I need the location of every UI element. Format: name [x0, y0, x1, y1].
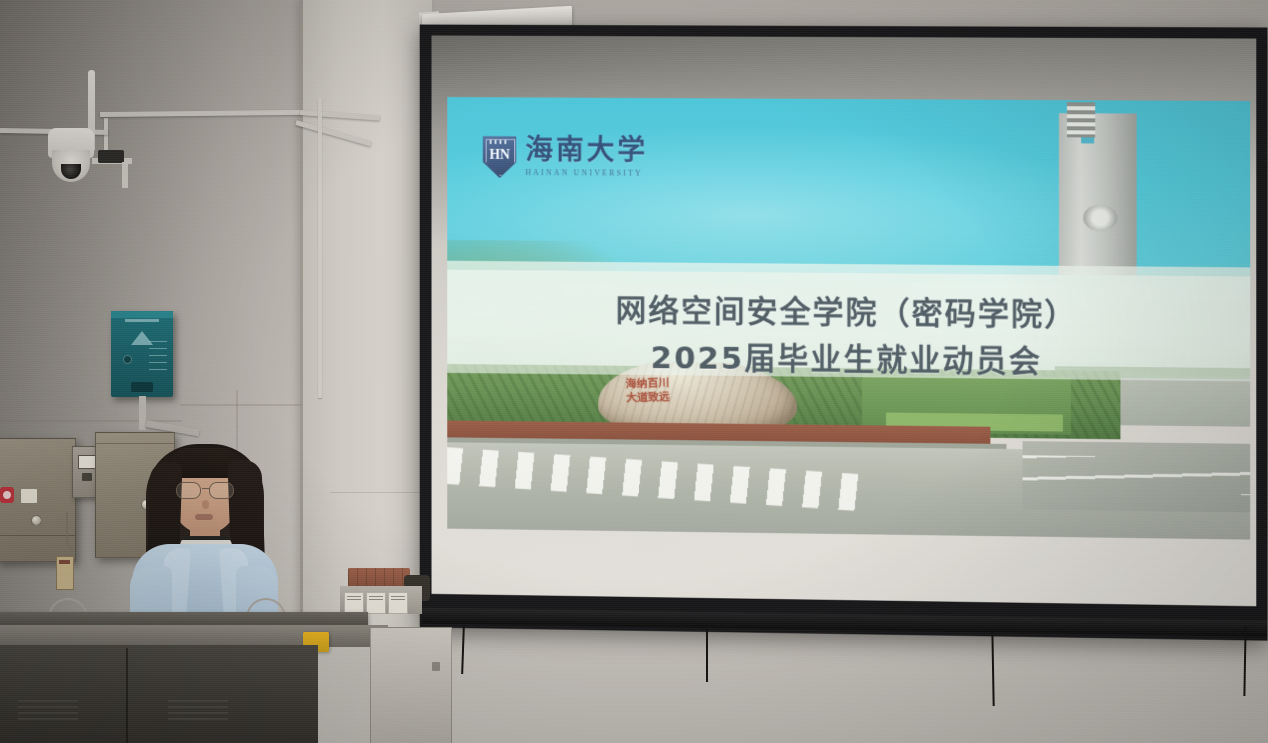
cabinet-seam	[0, 535, 75, 536]
slide-title-line-1: 网络空间安全学院（密码学院）	[447, 287, 1250, 341]
unit-vent	[131, 382, 153, 392]
shelf-box	[344, 592, 364, 614]
lectern-vent	[18, 700, 78, 720]
screen-fabric: 海纳百川 大道致远	[432, 35, 1257, 606]
shelf-box-label	[347, 596, 361, 600]
lectern-vent	[168, 700, 228, 720]
door-notice-plate	[56, 556, 74, 590]
shelf-box	[366, 592, 386, 614]
campus-tower-spire	[1067, 102, 1095, 137]
shelf-box-label	[369, 596, 383, 600]
projection-screen: 海纳百川 大道致远	[414, 8, 1268, 628]
lecture-hall-photo: 海纳百川 大道致远	[0, 0, 1268, 743]
teaching-lectern-front	[0, 645, 318, 743]
conduit-pipe-vertical	[318, 98, 322, 398]
dome-security-camera	[44, 128, 100, 190]
slide-title: 网络空间安全学院（密码学院） 2025届毕业生就业动员会	[447, 287, 1250, 388]
unit-top-edge	[111, 311, 173, 318]
wall-mounted-electrical-unit	[111, 311, 173, 397]
university-logo: HN 海南大学 HAINAN UNIVERSITY	[483, 136, 648, 179]
presentation-slide: 海纳百川 大道致远	[447, 97, 1250, 540]
glasses-bridge	[202, 488, 210, 489]
shield-monogram: HN	[483, 148, 517, 164]
cabinet-lock	[432, 662, 440, 671]
wall-seam	[180, 404, 302, 406]
camera-bracket	[122, 162, 128, 188]
unit-indicator-dot	[123, 355, 132, 364]
campus-entrance-photo: 海纳百川 大道致远	[447, 360, 1250, 539]
shield-icon: HN	[483, 136, 517, 178]
wall-seam	[330, 492, 422, 493]
lectern-door-seam	[126, 648, 128, 743]
screen-frame: 海纳百川 大道致远	[420, 25, 1268, 641]
camera-housing-box	[98, 150, 124, 163]
warning-sticker	[0, 487, 14, 503]
slide-title-line-2: 2025届毕业生就业动员会	[447, 333, 1250, 388]
teaching-lectern-ledge	[0, 625, 388, 647]
eyeglasses-icon	[175, 482, 235, 497]
hanging-cord	[706, 628, 708, 682]
presenter-mouth	[195, 514, 213, 520]
unit-label-lines	[149, 341, 167, 375]
university-name-cn: 海南大学	[525, 137, 648, 166]
electrical-cabinet	[0, 438, 76, 562]
shield-stars	[490, 140, 510, 144]
conduit-pipe	[104, 118, 108, 154]
lane-markings	[1023, 455, 1250, 495]
shelf-box-label	[391, 596, 405, 600]
unit-brand-strip	[125, 319, 159, 322]
hanging-wire	[66, 512, 82, 554]
wall-column-edge	[300, 0, 303, 640]
meter-button	[82, 473, 92, 481]
presenter-nose	[202, 500, 209, 509]
stone-inscription-line-2: 大道致远	[626, 391, 670, 406]
logo-wordmark: 海南大学 HAINAN UNIVERSITY	[525, 137, 648, 178]
cabinet-knob	[31, 515, 42, 526]
shelf-box	[388, 592, 408, 614]
university-name-en: HAINAN UNIVERSITY	[525, 168, 648, 178]
equipment-cabinet	[370, 627, 452, 743]
label-sticker	[21, 489, 37, 503]
